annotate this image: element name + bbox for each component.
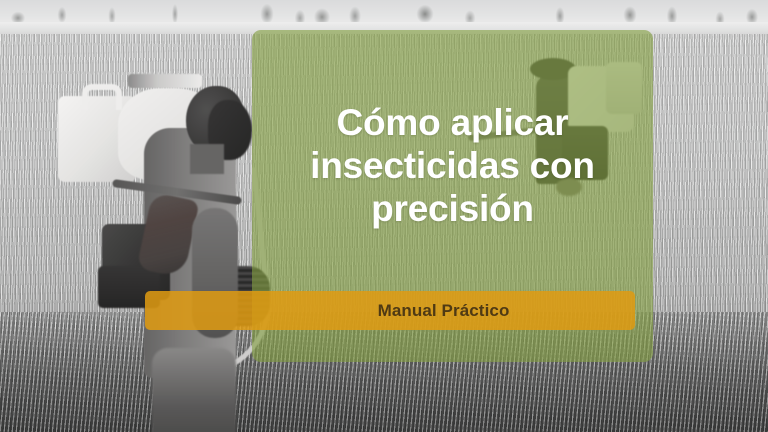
title-line-1: Cómo aplicar xyxy=(252,101,653,144)
title-line-2: insecticidas con xyxy=(252,144,653,187)
sprayer-tank-cap xyxy=(128,74,202,88)
jerrican-handle-icon xyxy=(82,84,122,110)
farmer-with-sprayer xyxy=(40,48,270,432)
manual-practico-button[interactable]: Manual Práctico xyxy=(145,291,635,330)
hero-banner: Cómo aplicar insecticidas con precisión … xyxy=(0,0,768,432)
page-title: Cómo aplicar insecticidas con precisión xyxy=(252,101,653,230)
farmer-legs xyxy=(152,348,236,432)
manual-practico-button-label: Manual Práctico xyxy=(378,301,510,321)
farmer-neck xyxy=(190,144,224,174)
title-line-3: precisión xyxy=(252,187,653,230)
